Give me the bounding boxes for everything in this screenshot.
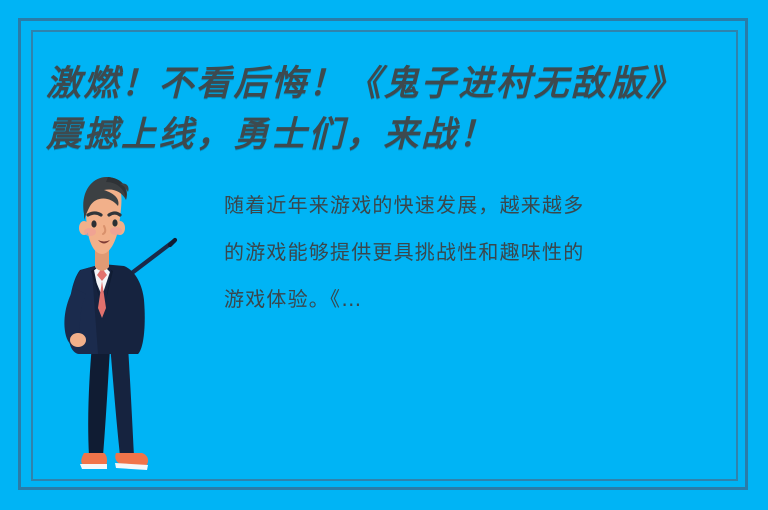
banner-title: 激燃！不看后悔！《鬼子进村无敌版》 震撼上线，勇士们，来战！	[46, 58, 736, 160]
promo-banner: 激燃！不看后悔！《鬼子进村无敌版》 震撼上线，勇士们，来战！ 随着近年来游戏的快…	[0, 0, 768, 510]
body-line-1: 随着近年来游戏的快速发展，越来越多	[224, 182, 729, 229]
presenter-illustration	[58, 168, 218, 490]
legs	[88, 344, 134, 456]
body-line-2: 的游戏能够提供更具挑战性和趣味性的	[224, 229, 729, 276]
title-line-2: 震撼上线，勇士们，来战！	[46, 109, 736, 160]
shoes	[80, 453, 148, 470]
title-line-1: 激燃！不看后悔！《鬼子进村无敌版》	[46, 58, 736, 109]
banner-body-text: 随着近年来游戏的快速发展，越来越多 的游戏能够提供更具挑战性和趣味性的 游戏体验…	[224, 182, 729, 323]
head	[79, 177, 129, 254]
body-line-3: 游戏体验。《…	[224, 276, 729, 323]
